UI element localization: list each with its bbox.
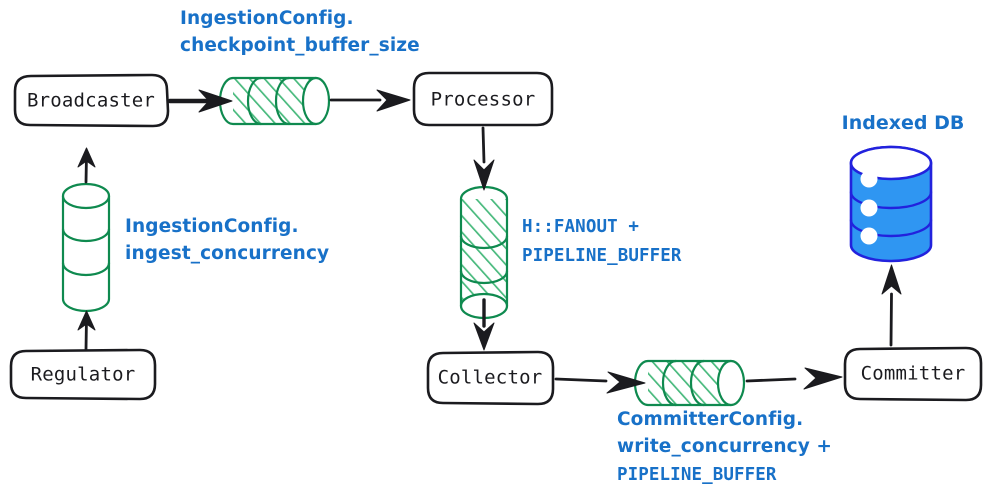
- queue-write-concurrency[interactable]: [633, 356, 751, 412]
- edge-line: [891, 294, 892, 345]
- arrow-head-right: [377, 90, 410, 111]
- annotation-line: PIPELINE_BUFFER: [617, 465, 777, 485]
- node-collector[interactable]: Collector: [428, 352, 553, 404]
- node-broadcaster[interactable]: Broadcaster: [15, 75, 168, 126]
- ingest-queue-top-ellipse: [63, 184, 109, 208]
- annotation-line: H::FANOUT +: [522, 217, 639, 237]
- annotation-line: checkpoint_buffer_size: [180, 35, 420, 56]
- annotation-line: IngestionConfig.: [180, 8, 354, 29]
- annotation-fanout-pipeline-buffer: H::FANOUT + PIPELINE_BUFFER: [522, 217, 682, 266]
- edge-collector-to-write-queue: [556, 372, 645, 393]
- diagram-canvas: Broadcaster Processor Regulator Collecto…: [0, 0, 987, 492]
- indexed-db-indicator-3: [861, 228, 878, 245]
- edge-processor-to-fanout-queue: [474, 128, 494, 190]
- edge-line: [483, 128, 484, 162]
- pipeline-diagram: Broadcaster Processor Regulator Collecto…: [0, 0, 987, 492]
- committer-label: Committer: [861, 363, 966, 385]
- write-queue-cap-ellipse: [718, 361, 744, 405]
- collector-label: Collector: [438, 367, 543, 389]
- ingest-queue-body: [63, 196, 109, 311]
- node-indexed-db[interactable]: Indexed DB: [842, 112, 965, 261]
- edge-line: [747, 379, 795, 381]
- indexed-db-indicator-2: [861, 200, 878, 217]
- edge-committer-to-indexed-db: [882, 265, 901, 345]
- arrow-head-down: [474, 160, 494, 190]
- queue-ingest-concurrency[interactable]: [58, 180, 114, 315]
- edge-ingest-queue-to-broadcaster: [78, 148, 95, 182]
- annotation-line: CommitterConfig.: [617, 409, 803, 430]
- annotation-ingest-concurrency: IngestionConfig. ingest_concurrency: [125, 216, 329, 264]
- annotation-line: PIPELINE_BUFFER: [522, 246, 682, 266]
- annotation-write-concurrency: CommitterConfig. write_concurrency + PIP…: [617, 409, 832, 485]
- node-regulator[interactable]: Regulator: [11, 350, 155, 399]
- edge-write-queue-to-committer: [747, 368, 842, 389]
- processor-label: Processor: [431, 89, 536, 111]
- edge-regulator-to-ingest-queue: [78, 311, 95, 349]
- node-committer[interactable]: Committer: [845, 348, 981, 400]
- arrow-head-up: [882, 265, 901, 294]
- edge-line: [556, 379, 606, 381]
- indexed-db-label: Indexed DB: [842, 112, 965, 134]
- indexed-db-indicator-1: [861, 171, 878, 188]
- annotation-line: IngestionConfig.: [125, 216, 299, 237]
- annotation-line: write_concurrency +: [617, 436, 832, 457]
- arrow-head-right: [804, 368, 842, 389]
- broadcaster-label: Broadcaster: [27, 90, 155, 112]
- checkpoint-queue-cap-ellipse: [303, 78, 329, 124]
- annotation-checkpoint-buffer-size: IngestionConfig. checkpoint_buffer_size: [180, 8, 420, 56]
- node-processor[interactable]: Processor: [414, 73, 552, 125]
- queue-checkpoint-buffer[interactable]: [218, 72, 336, 132]
- regulator-label: Regulator: [31, 364, 136, 386]
- edge-checkpoint-queue-to-processor: [331, 90, 410, 111]
- annotation-line: ingest_concurrency: [125, 243, 329, 264]
